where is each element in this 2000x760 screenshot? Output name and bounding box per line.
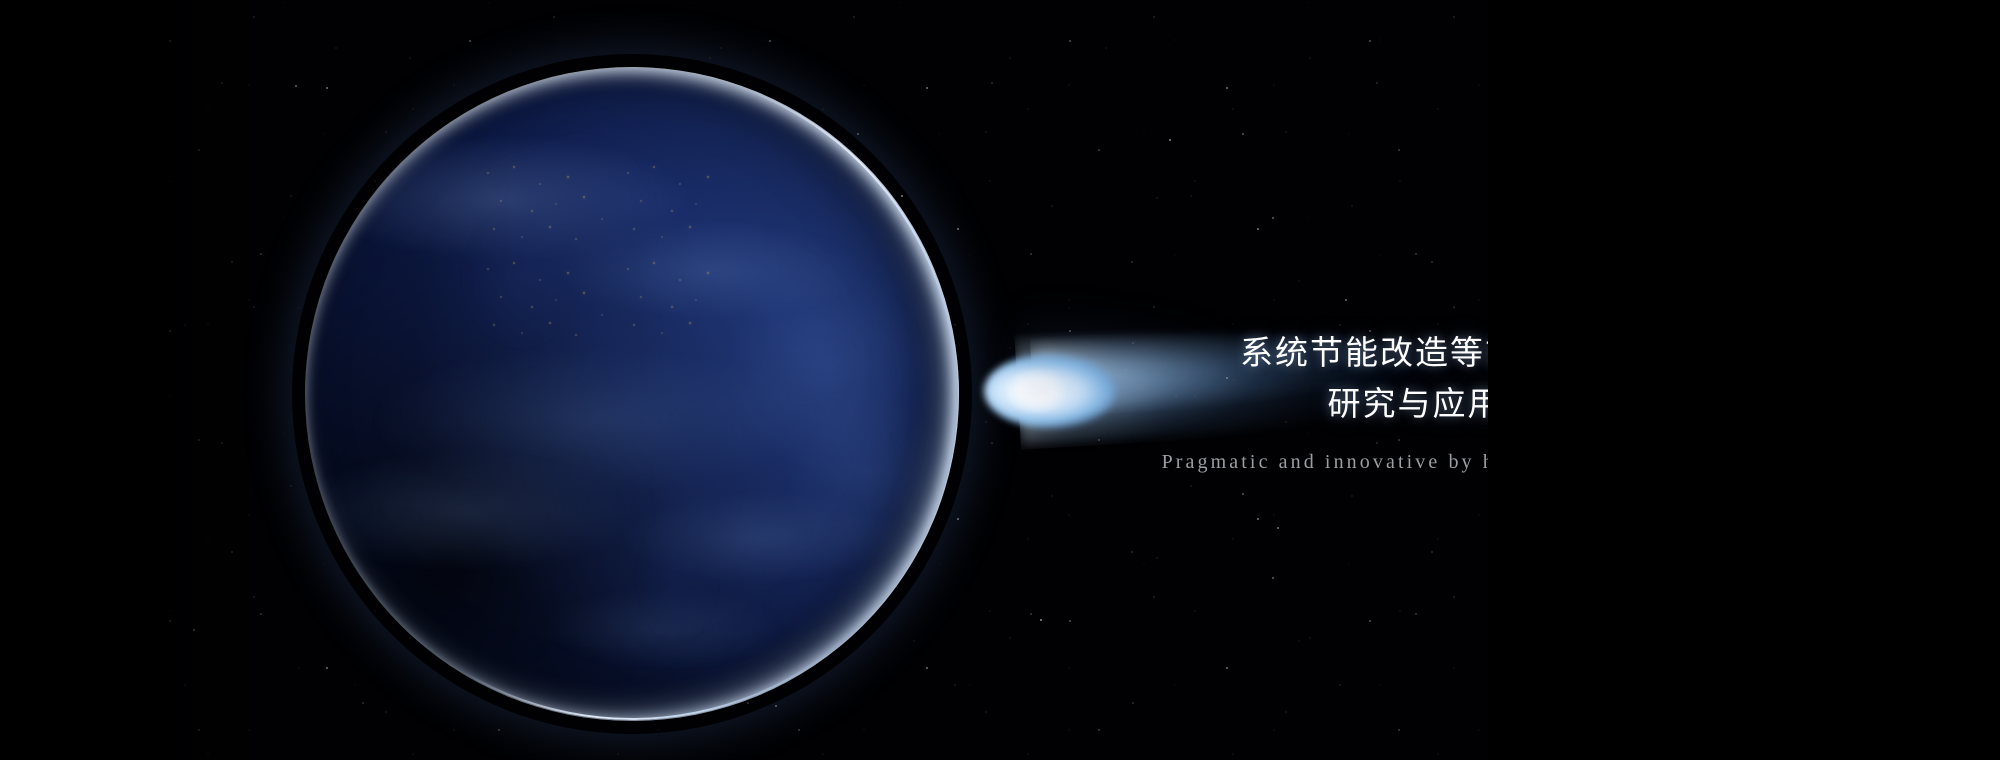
- earth-globe: [306, 68, 958, 720]
- earth-sphere: [306, 68, 958, 720]
- comet-core: [1006, 370, 1070, 412]
- earth-landmass-layer: [306, 68, 958, 720]
- starfield-left-fade: [136, 0, 276, 760]
- hero-banner: 系统节能改造等前沿技术的 研究与应用开发 Pragmatic and innov…: [0, 0, 2000, 760]
- left-black-matte: [0, 0, 136, 760]
- right-black-matte: [1488, 0, 2000, 760]
